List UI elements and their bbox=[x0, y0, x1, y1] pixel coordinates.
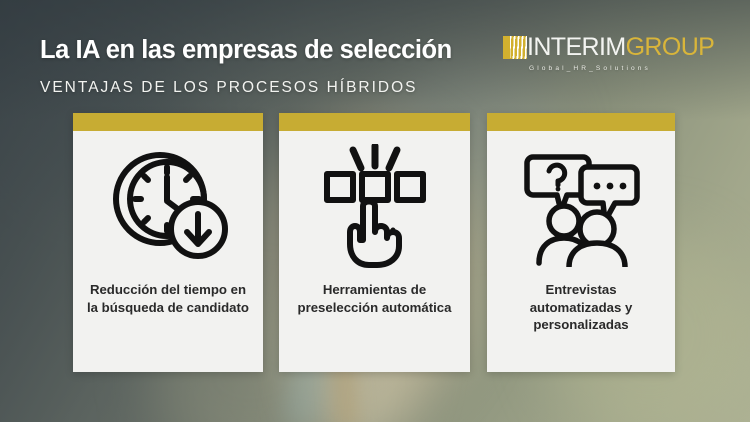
card-title-text: Herramientas de preselección automática bbox=[291, 281, 458, 316]
benefit-card[interactable]: Herramientas de preselección automática bbox=[279, 113, 470, 372]
hand-pointing-at-checkboxes-icon bbox=[279, 131, 470, 281]
card-accent-bar bbox=[279, 113, 470, 131]
card-title: Reducción del tiempo en la búsqueda de c… bbox=[73, 281, 263, 372]
card-accent-bar bbox=[73, 113, 263, 131]
card-accent-bar bbox=[487, 113, 675, 131]
benefit-card[interactable]: Reducción del tiempo en la búsqueda de c… bbox=[73, 113, 263, 372]
benefit-card[interactable]: Entrevistas automatizadas y personalizad… bbox=[487, 113, 675, 372]
card-title-text: Entrevistas automatizadas y personalizad… bbox=[499, 281, 663, 334]
card-title: Entrevistas automatizadas y personalizad… bbox=[487, 281, 675, 372]
clock-with-down-arrow-icon bbox=[73, 131, 263, 281]
card-title-text: Reducción del tiempo en la búsqueda de c… bbox=[85, 281, 251, 316]
card-title: Herramientas de preselección automática bbox=[279, 281, 470, 372]
two-people-with-speech-bubbles-icon bbox=[487, 131, 675, 281]
benefit-cards: Reducción del tiempo en la búsqueda de c… bbox=[0, 0, 750, 422]
